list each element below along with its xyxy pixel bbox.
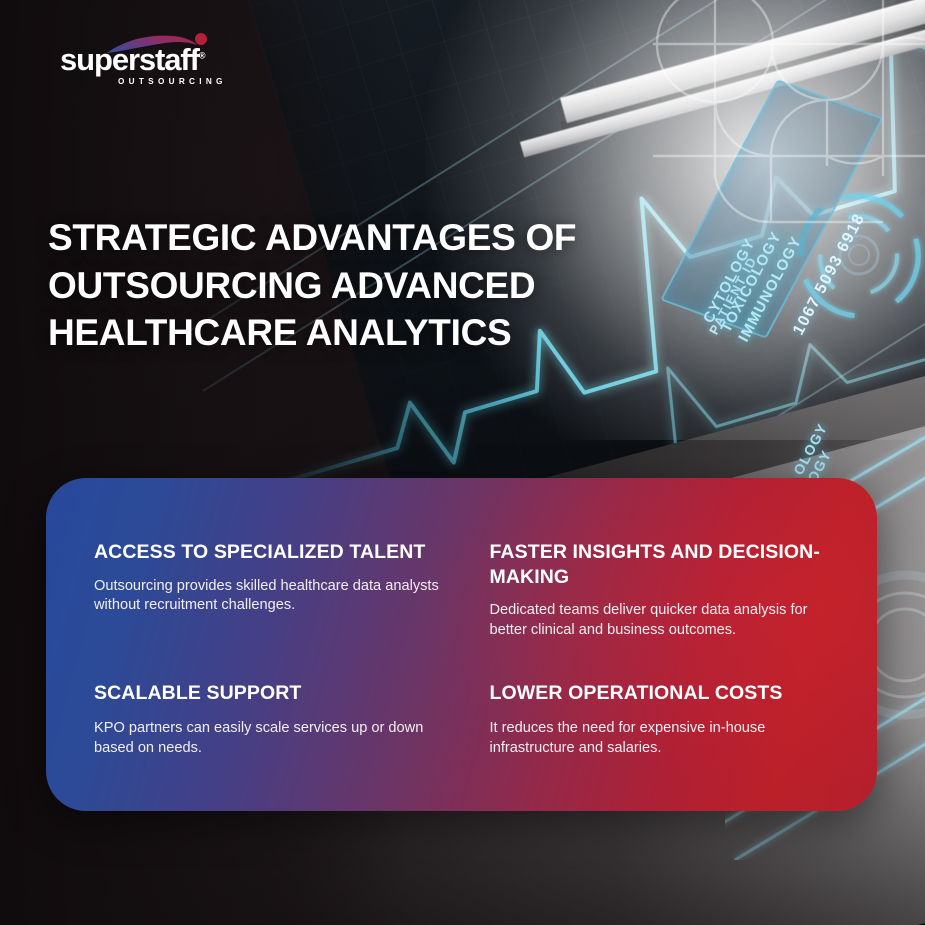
benefit-body: Outsourcing provides skilled healthcare … <box>94 577 439 616</box>
benefits-card: ACCESS TO SPECIALIZED TALENT Outsourcing… <box>46 478 877 811</box>
benefit-item-scalable-support: SCALABLE SUPPORT KPO partners can easily… <box>94 681 446 771</box>
infographic-canvas: PATIENT ID 1067 5093 6918 CYTOLOGY TOXIC… <box>0 0 925 925</box>
benefit-body: It reduces the need for expensive in-hou… <box>490 719 822 758</box>
benefits-grid: ACCESS TO SPECIALIZED TALENT Outsourcing… <box>46 478 877 811</box>
logo-registered-mark: ® <box>199 51 205 61</box>
benefit-item-lower-operational-costs: LOWER OPERATIONAL COSTS It reduces the n… <box>470 681 822 771</box>
logo-tagline: OUTSOURCING <box>118 77 220 86</box>
benefit-title: ACCESS TO SPECIALIZED TALENT <box>94 540 446 565</box>
benefit-item-faster-insights-and-decision-making: FASTER INSIGHTS AND DECISION-MAKING Dedi… <box>470 540 822 653</box>
benefit-title: FASTER INSIGHTS AND DECISION-MAKING <box>490 540 822 589</box>
benefit-title: SCALABLE SUPPORT <box>94 681 446 706</box>
logo-word-text: superstaff <box>60 42 199 77</box>
logo-wordmark: superstaff® <box>60 44 220 75</box>
benefit-body: Dedicated teams deliver quicker data ana… <box>490 601 822 640</box>
benefit-body: KPO partners can easily scale services u… <box>94 719 439 758</box>
page-title: STRATEGIC ADVANTAGES OF OUTSOURCING ADVA… <box>48 214 608 357</box>
brand-logo[interactable]: superstaff® OUTSOURCING <box>60 44 220 86</box>
benefit-item-access-to-specialized-talent: ACCESS TO SPECIALIZED TALENT Outsourcing… <box>94 540 446 653</box>
benefit-title: LOWER OPERATIONAL COSTS <box>490 681 822 706</box>
